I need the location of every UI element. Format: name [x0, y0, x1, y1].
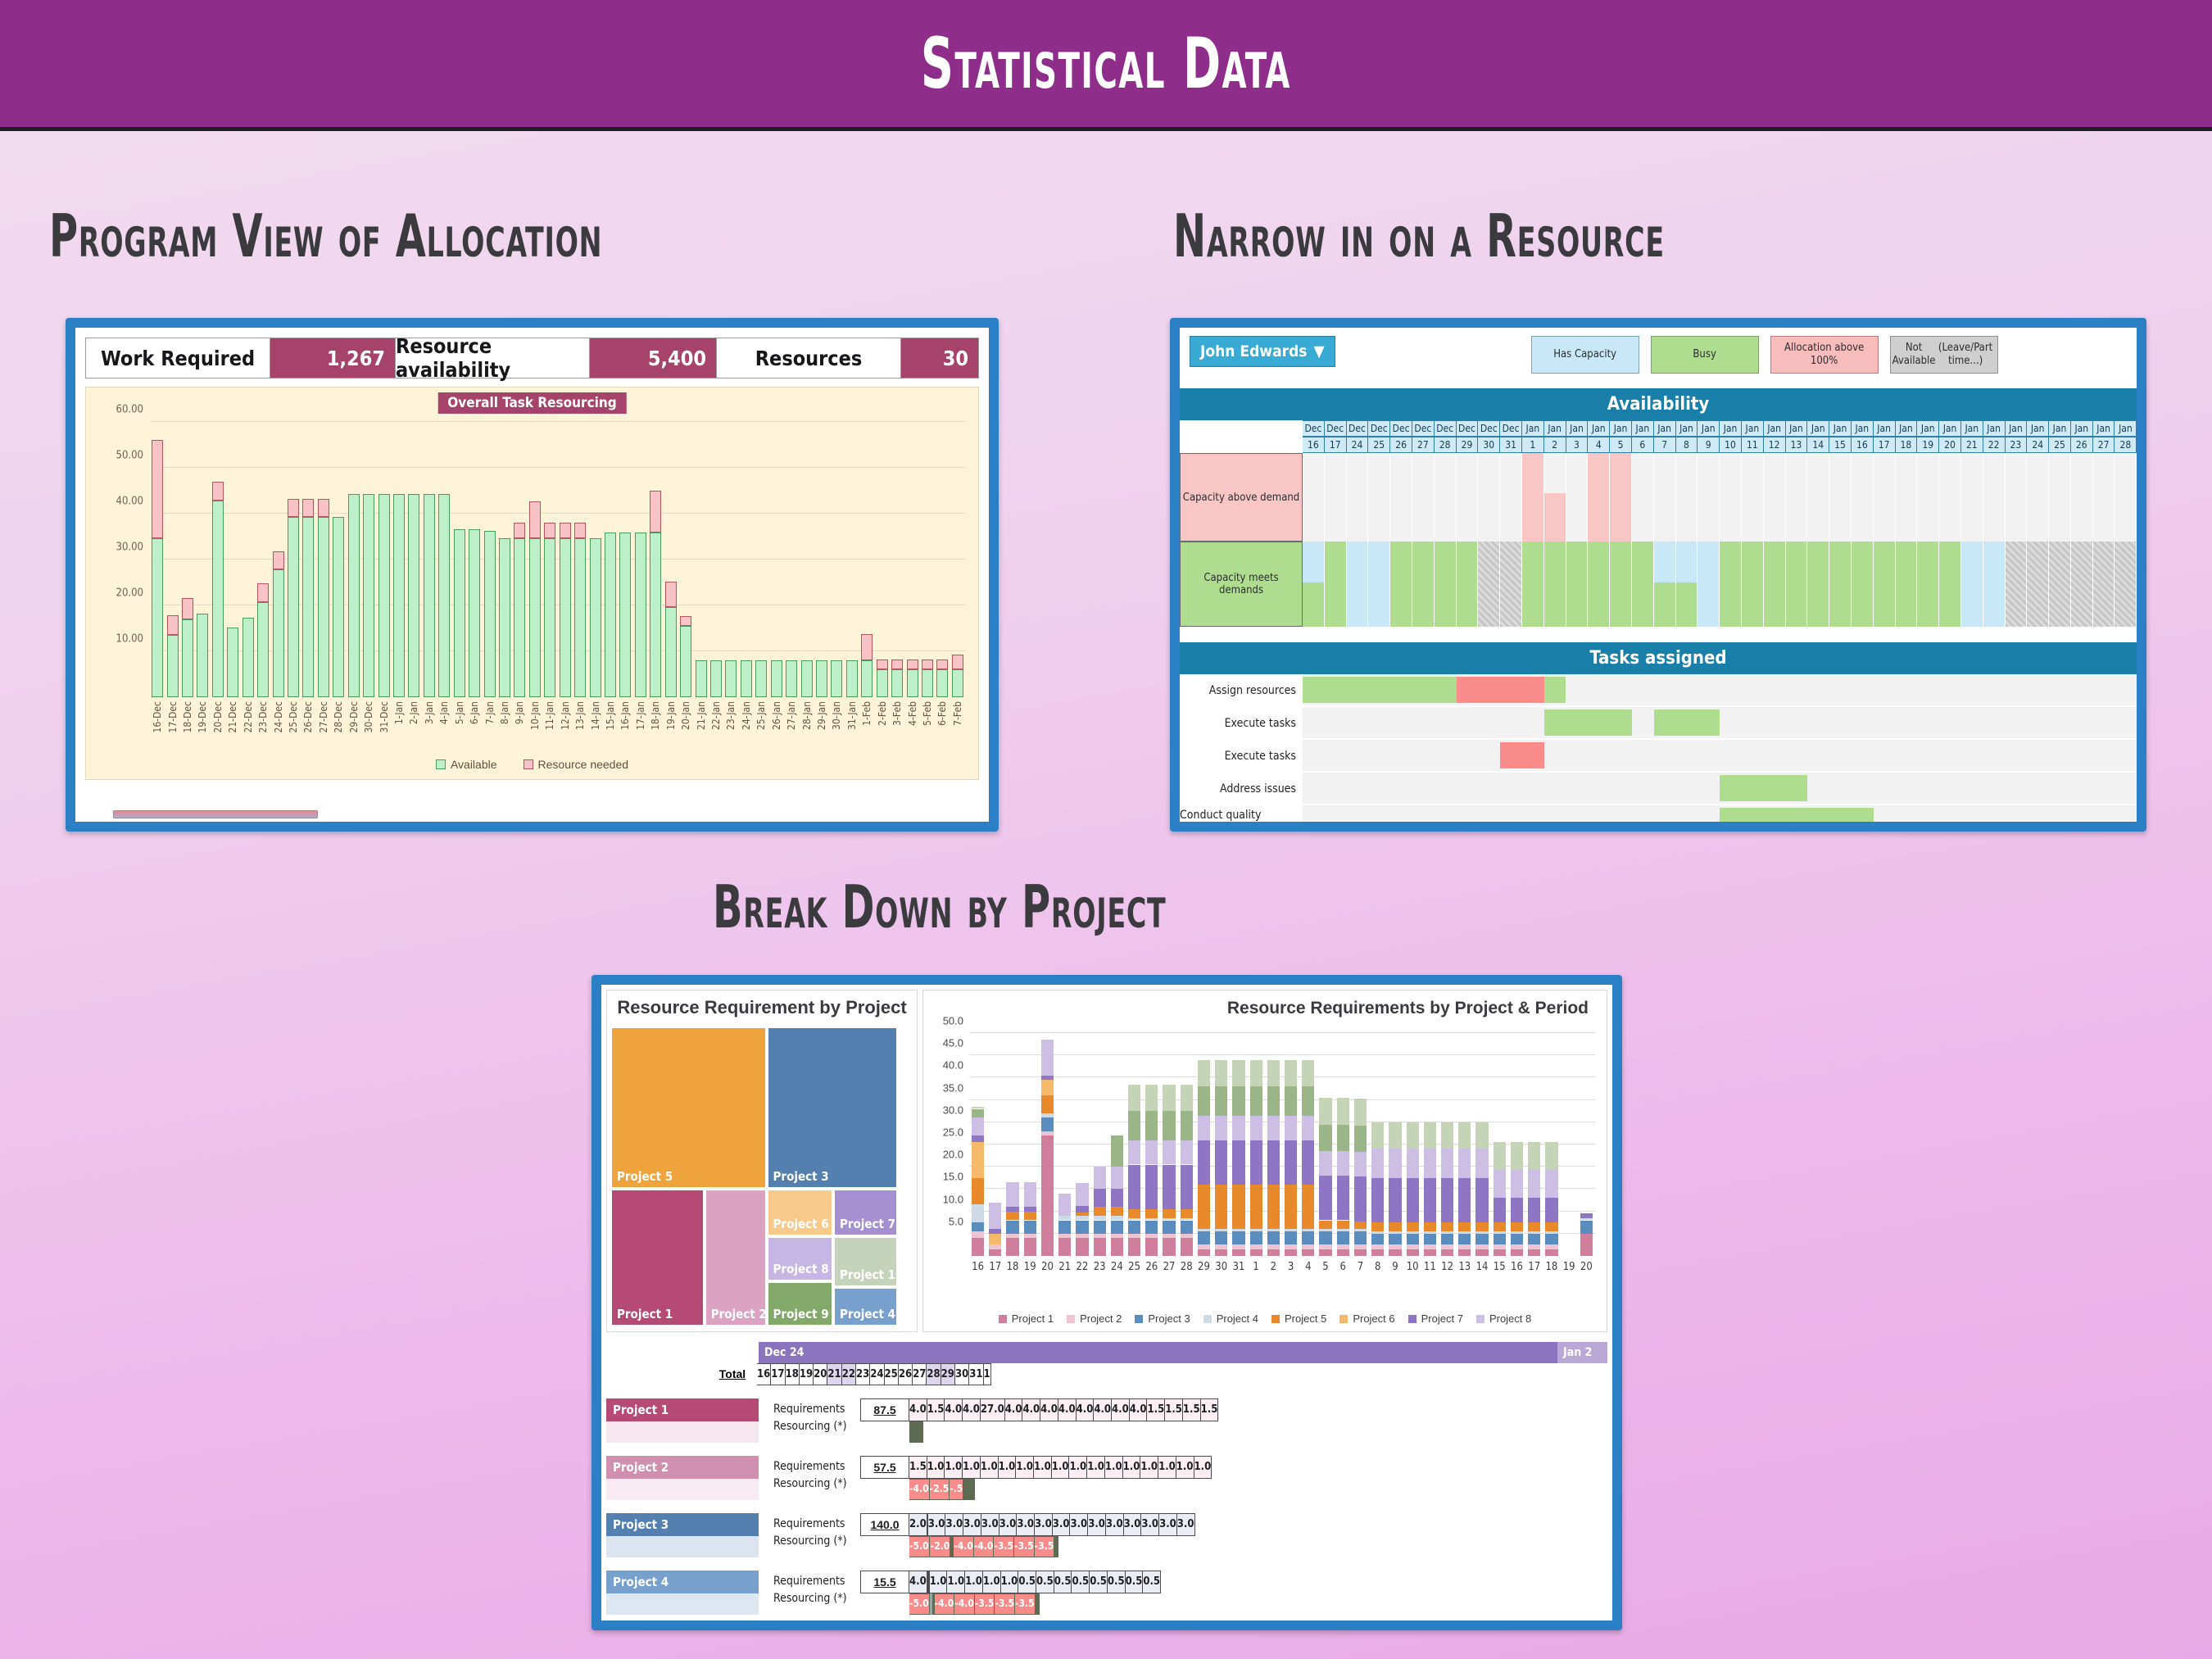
requirement-cell[interactable]: 1.0 — [927, 1456, 945, 1479]
day-header[interactable]: 21 — [827, 1363, 841, 1385]
bar-segment-available — [273, 569, 284, 697]
day-header[interactable]: 22 — [842, 1363, 856, 1385]
bar-segment — [1458, 1244, 1471, 1249]
availability-cell[interactable] — [1544, 453, 1566, 542]
availability-cell[interactable] — [1566, 453, 1589, 542]
availability-cell[interactable] — [1347, 542, 1369, 627]
requirement-cell[interactable]: 1.0 — [1016, 1456, 1034, 1479]
resourcing-cell[interactable] — [922, 1421, 923, 1443]
requirement-cell[interactable]: 3.0 — [1035, 1513, 1053, 1536]
availability-row-label: Capacity above demand — [1180, 453, 1303, 542]
requirement-cell[interactable]: 1.5 — [909, 1456, 927, 1479]
day-header[interactable]: 19 — [800, 1363, 814, 1385]
resourcing-cell[interactable]: -4.0 — [909, 1479, 930, 1500]
resource-selector-dropdown[interactable]: John Edwards ▼ — [1190, 336, 1335, 367]
availability-cell[interactable] — [1544, 542, 1566, 627]
bar-segment-resource-needed — [288, 499, 299, 518]
requirement-cell[interactable]: 4.0 — [1130, 1398, 1148, 1421]
availability-cell[interactable] — [1654, 453, 1676, 542]
availability-cell[interactable] — [1325, 542, 1347, 627]
resourcing-cell[interactable]: -5.0 — [909, 1536, 930, 1557]
requirement-cell[interactable]: 1.0 — [930, 1571, 948, 1593]
day-header[interactable]: 20 — [814, 1363, 827, 1385]
treemap-tile[interactable]: Project 4 — [833, 1287, 899, 1326]
bar: 21-Dec — [227, 422, 238, 697]
task-bar-over[interactable] — [1500, 742, 1544, 768]
requirement-cell[interactable]: 4.0 — [1005, 1398, 1023, 1421]
x-axis-tick-label: 19-Dec — [197, 701, 208, 733]
table-project-row: Project 3RequirementsResourcing (*)140.0… — [606, 1513, 1607, 1557]
treemap-tile[interactable]: Project 7 — [833, 1189, 899, 1237]
availability-cell[interactable] — [1829, 542, 1852, 627]
availability-cell[interactable] — [1457, 453, 1479, 542]
availability-cell[interactable] — [2093, 542, 2115, 627]
bar-segment — [1424, 1122, 1436, 1149]
availability-cell[interactable] — [1390, 542, 1412, 627]
day-header[interactable]: 25 — [885, 1363, 899, 1385]
availability-cell[interactable] — [1325, 453, 1347, 542]
requirement-cell[interactable]: 3.0 — [945, 1513, 963, 1536]
availability-row: Capacity above demand — [1180, 453, 2137, 542]
date-header-month: Jan — [1917, 420, 1939, 437]
bar-segment — [1528, 1169, 1540, 1198]
legend-item: Project 8 — [1476, 1312, 1531, 1325]
project-chip[interactable]: Project 1 — [606, 1398, 759, 1421]
row-values: 2.03.03.03.03.03.03.03.03.03.03.03.03.03… — [909, 1513, 1607, 1557]
requirement-cell[interactable]: 1.0 — [999, 1456, 1017, 1479]
x-axis-tick-label: 5 — [1322, 1261, 1328, 1273]
requirement-cell[interactable]: 3.0 — [1124, 1513, 1142, 1536]
task-bar-busy[interactable] — [1720, 808, 1874, 822]
requirement-cell[interactable]: 3.0 — [1159, 1513, 1177, 1536]
day-header[interactable]: 24 — [870, 1363, 884, 1385]
bar: 27-Dec — [318, 422, 329, 697]
bar-segment — [1354, 1152, 1367, 1176]
requirements-cells: 4.01.01.01.01.01.00.50.50.50.50.50.50.50… — [909, 1571, 1607, 1593]
availability-cell[interactable] — [2093, 453, 2115, 542]
project-chip[interactable]: Project 2 — [606, 1456, 759, 1479]
y-axis-tick-label: 10.00 — [116, 633, 143, 646]
requirement-cell[interactable]: 4.0 — [1058, 1398, 1077, 1421]
x-axis-tick-label: 30-Jan — [831, 701, 842, 730]
availability-cell[interactable] — [1676, 542, 1698, 627]
requirement-cell[interactable]: 3.0 — [1106, 1513, 1124, 1536]
requirement-cell[interactable]: 3.0 — [1017, 1513, 1035, 1536]
bar-segment — [1215, 1185, 1227, 1229]
requirement-cell[interactable]: 0.5 — [1108, 1571, 1126, 1593]
day-header[interactable]: 26 — [899, 1363, 913, 1385]
requirement-cell[interactable]: 1.0 — [983, 1571, 1001, 1593]
day-header[interactable]: 17 — [771, 1363, 785, 1385]
bar-segment — [1058, 1221, 1071, 1234]
x-axis-tick-label: 7 — [1358, 1261, 1363, 1273]
requirement-cell[interactable]: 4.0 — [963, 1398, 981, 1421]
bar: 23 — [1094, 1033, 1106, 1256]
availability-cell[interactable] — [1654, 542, 1676, 627]
requirement-cell[interactable]: 1.5 — [927, 1398, 945, 1421]
y-axis-tick-label: 40.00 — [116, 496, 143, 508]
requirement-cell[interactable]: 1.0 — [965, 1571, 983, 1593]
treemap-tile[interactable]: Project 6 — [767, 1189, 833, 1237]
bar-segment-available — [454, 529, 465, 697]
date-header-month: Dec — [1500, 420, 1522, 437]
over-capacity-fill — [1544, 493, 1566, 542]
requirement-cell[interactable]: 0.5 — [1054, 1571, 1072, 1593]
requirement-cell[interactable]: 4.0 — [909, 1398, 927, 1421]
row-labels: RequirementsResourcing (*) — [759, 1513, 860, 1557]
availability-cell[interactable] — [1390, 453, 1412, 542]
total-value: 140.0 — [860, 1513, 909, 1557]
requirement-cell[interactable]: 1.0 — [963, 1456, 981, 1479]
section-heading-narrow-resource: Narrow in on a Resource — [1173, 202, 1665, 270]
project-chip-column: Project 1 — [606, 1398, 759, 1443]
project-chip-sub — [606, 1479, 759, 1500]
resourcing-cell[interactable]: -3.5 — [975, 1593, 995, 1615]
availability-cell[interactable] — [2049, 453, 2071, 542]
resourcing-cell[interactable]: -3.5 — [1035, 1536, 1055, 1557]
availability-cell[interactable] — [1874, 542, 1896, 627]
requirement-cell[interactable]: 1.0 — [1123, 1456, 1141, 1479]
requirement-cell[interactable]: 3.0 — [981, 1513, 999, 1536]
day-header-spacer — [606, 1363, 708, 1385]
availability-cell[interactable] — [2071, 453, 2093, 542]
requirement-cell[interactable]: 27.0 — [981, 1398, 1005, 1421]
requirement-cell[interactable]: 1.0 — [1087, 1456, 1105, 1479]
x-axis-tick-label: 27 — [1163, 1261, 1176, 1273]
status-legend-2: Allocation above 100% — [1770, 336, 1879, 374]
requirement-cell[interactable]: 1.0 — [947, 1571, 965, 1593]
availability-cell[interactable] — [2006, 542, 2028, 627]
x-axis-tick-label: 28 — [1181, 1261, 1193, 1273]
availability-cell[interactable] — [2115, 453, 2137, 542]
bar: 18 — [1545, 1033, 1557, 1256]
requirement-cell[interactable]: 1.0 — [945, 1456, 963, 1479]
bar-segment — [1511, 1249, 1523, 1256]
date-header-month: Dec — [1478, 420, 1500, 437]
availability-cell[interactable] — [1764, 453, 1786, 542]
requirement-cell[interactable]: 4.0 — [1022, 1398, 1040, 1421]
availability-cell[interactable] — [1347, 453, 1369, 542]
project-chip[interactable]: Project 3 — [606, 1513, 759, 1536]
bar-segment — [1111, 1135, 1123, 1167]
treemap-tile[interactable]: Project 8 — [767, 1236, 833, 1281]
requirement-cell[interactable]: 4.0 — [1094, 1398, 1112, 1421]
availability-cell[interactable] — [1412, 453, 1435, 542]
availability-cell[interactable] — [1478, 542, 1500, 627]
resourcing-cell[interactable]: -2.5 — [930, 1479, 950, 1500]
x-axis-tick-label: 3-Jan — [424, 701, 435, 724]
bar-segment — [1250, 1244, 1262, 1249]
bar-segment — [1511, 1231, 1523, 1234]
availability-cell[interactable] — [1303, 542, 1325, 627]
availability-cell[interactable] — [1720, 542, 1742, 627]
availability-cell[interactable] — [1983, 542, 2006, 627]
x-axis-tick-label: 31-Dec — [378, 701, 390, 733]
requirement-cell[interactable]: 4.0 — [1077, 1398, 1095, 1421]
treemap-tile[interactable]: Project 5 — [610, 1027, 767, 1189]
availability-cell[interactable] — [1500, 542, 1522, 627]
bar-segment — [989, 1249, 1001, 1256]
availability-cell[interactable] — [2071, 542, 2093, 627]
availability-cell[interactable] — [1829, 453, 1852, 542]
availability-cell[interactable] — [2049, 542, 2071, 627]
bar-segment — [1475, 1178, 1488, 1222]
availability-cell[interactable] — [1939, 453, 1961, 542]
requirement-cell[interactable]: 1.5 — [1201, 1398, 1219, 1421]
bar: 17-Dec — [167, 422, 179, 697]
availability-cell[interactable] — [1742, 453, 1764, 542]
availability-cell[interactable] — [1852, 542, 1874, 627]
task-bar-busy[interactable] — [1544, 677, 1566, 703]
date-header-day: 30 — [1478, 437, 1500, 453]
legend-swatch — [1135, 1315, 1143, 1323]
bar-segment-available — [861, 660, 873, 697]
bar-segment — [1407, 1149, 1419, 1177]
availability-cell[interactable] — [1852, 453, 1874, 542]
bar-segment — [1441, 1222, 1453, 1231]
availability-cell[interactable] — [1742, 542, 1764, 627]
requirement-cell[interactable]: 3.0 — [1141, 1513, 1159, 1536]
x-axis-tick-label: 15-Jan — [605, 701, 616, 730]
project-chip[interactable]: Project 4 — [606, 1571, 759, 1593]
availability-cell[interactable] — [1500, 453, 1522, 542]
date-header-month: Jan — [2049, 420, 2071, 437]
treemap-tile[interactable]: Project 1 — [610, 1189, 705, 1326]
task-bar-busy[interactable] — [1303, 677, 1457, 703]
requirement-cell[interactable]: 4.0 — [1040, 1398, 1058, 1421]
availability-cell[interactable] — [1896, 542, 1918, 627]
bar-segment — [1232, 1116, 1244, 1140]
legend-item: Project 5 — [1271, 1312, 1326, 1325]
task-bar-over[interactable] — [1457, 677, 1544, 703]
treemap-tile[interactable]: Project 10 — [833, 1236, 899, 1287]
requirement-cell[interactable]: 0.5 — [1090, 1571, 1108, 1593]
kpi-label-work-required: Work Required — [86, 338, 270, 378]
availability-cell[interactable] — [1610, 542, 1632, 627]
resourcing-cell[interactable] — [1058, 1536, 1058, 1557]
resourcing-cell[interactable]: -4.0 — [954, 1536, 974, 1557]
requirement-cell[interactable]: 1.0 — [1052, 1456, 1070, 1479]
task-bar-busy[interactable] — [1654, 709, 1720, 736]
resourcing-cell[interactable]: -3.5 — [994, 1536, 1014, 1557]
date-header-day: 12 — [1764, 437, 1786, 453]
bar: 17-Jan — [635, 422, 646, 697]
requirement-cell[interactable]: 1.0 — [1105, 1456, 1123, 1479]
task-bar-busy[interactable] — [1720, 775, 1807, 801]
resourcing-cell[interactable]: -4.0 — [954, 1593, 975, 1615]
bar-segment — [1232, 1249, 1244, 1256]
bar-segment-available — [243, 618, 254, 697]
requirement-cell[interactable]: 0.5 — [1072, 1571, 1090, 1593]
requirement-cell[interactable]: 1.0 — [1069, 1456, 1087, 1479]
availability-cell[interactable] — [1303, 453, 1325, 542]
availability-cell[interactable] — [1566, 542, 1589, 627]
treemap-tile[interactable]: Project 3 — [767, 1027, 899, 1189]
requirement-cell[interactable]: 3.0 — [1070, 1513, 1088, 1536]
bar-segment — [1407, 1122, 1419, 1149]
x-axis-tick-label: 1 — [1253, 1261, 1258, 1273]
resourcing-cell[interactable]: -3.5 — [1014, 1536, 1035, 1557]
x-axis-tick-label: 20 — [1580, 1261, 1593, 1273]
bar-segment-available — [650, 533, 661, 697]
requirement-cell[interactable]: 1.0 — [1034, 1456, 1052, 1479]
row-labels: RequirementsResourcing (*) — [759, 1456, 860, 1500]
availability-cell[interactable] — [1896, 453, 1918, 542]
requirement-cell[interactable]: 4.0 — [945, 1398, 963, 1421]
availability-cell[interactable] — [1522, 453, 1544, 542]
availability-cell[interactable] — [1676, 453, 1698, 542]
day-header[interactable]: 23 — [856, 1363, 870, 1385]
availability-cell[interactable] — [1698, 542, 1720, 627]
availability-row: Capacity meets demands — [1180, 542, 2137, 627]
requirement-cell[interactable]: 1.0 — [1001, 1571, 1019, 1593]
requirement-cell[interactable]: 4.0 — [909, 1571, 927, 1593]
x-axis-tick-label: 1-Jan — [393, 701, 405, 724]
requirement-cell[interactable]: 3.0 — [1177, 1513, 1195, 1536]
availability-cell[interactable] — [2115, 542, 2137, 627]
bar-segment — [1337, 1176, 1349, 1220]
availability-cell[interactable] — [2027, 453, 2049, 542]
resourcing-cell[interactable]: -3.5 — [1015, 1593, 1036, 1615]
bar-segment — [1302, 1116, 1314, 1140]
availability-cell[interactable] — [1807, 542, 1829, 627]
availability-cell[interactable] — [1939, 542, 1961, 627]
resourcing-cell[interactable] — [974, 1479, 975, 1500]
availability-cell[interactable] — [1917, 542, 1939, 627]
requirement-cell[interactable]: 3.0 — [928, 1513, 946, 1536]
availability-cell[interactable] — [1632, 453, 1654, 542]
availability-cell[interactable] — [1764, 542, 1786, 627]
table-month-row: Dec 24Jan 2 — [606, 1342, 1607, 1363]
bar: 27 — [1163, 1033, 1175, 1256]
availability-cell[interactable] — [1961, 542, 1983, 627]
bar: 23-Dec — [257, 422, 269, 697]
availability-cell[interactable] — [1874, 453, 1896, 542]
availability-cell[interactable] — [1368, 453, 1390, 542]
availability-cell[interactable] — [1478, 453, 1500, 542]
requirement-cell[interactable]: 3.0 — [999, 1513, 1018, 1536]
bar-segment — [1024, 1212, 1036, 1221]
resourcing-cell[interactable]: -.5 — [950, 1479, 963, 1500]
requirement-cell[interactable]: 3.0 — [963, 1513, 981, 1536]
availability-cell[interactable] — [1786, 453, 1808, 542]
bar-segment — [1111, 1189, 1123, 1207]
availability-cell[interactable] — [1588, 542, 1610, 627]
date-header-day: 18 — [1896, 437, 1918, 453]
requirement-cell[interactable]: 2.0 — [909, 1513, 927, 1536]
bar-segment — [1354, 1222, 1367, 1230]
day-header[interactable]: 30 — [955, 1363, 969, 1385]
requirement-cell[interactable]: 1.5 — [1165, 1398, 1183, 1421]
project-chip-sub — [606, 1536, 759, 1557]
availability-cell[interactable] — [1961, 453, 1983, 542]
day-header[interactable]: 16 — [757, 1363, 771, 1385]
requirement-cell[interactable]: 1.0 — [1194, 1456, 1213, 1479]
requirement-cell[interactable]: 1.0 — [1140, 1456, 1158, 1479]
requirement-cell[interactable]: 4.0 — [1112, 1398, 1130, 1421]
availability-cell[interactable] — [1807, 453, 1829, 542]
requirement-cell[interactable]: 1.0 — [1158, 1456, 1176, 1479]
day-header[interactable]: 31 — [969, 1363, 983, 1385]
resourcing-cell[interactable]: -2.0 — [931, 1536, 951, 1557]
bar: 19 — [1024, 1033, 1036, 1256]
requirement-cell[interactable]: 3.0 — [1088, 1513, 1106, 1536]
busy-fill — [1654, 582, 1675, 627]
requirement-cell[interactable]: 0.5 — [1143, 1571, 1161, 1593]
availability-track — [1303, 453, 2137, 542]
availability-cell[interactable] — [1457, 542, 1479, 627]
bar-segment — [1250, 1116, 1262, 1140]
date-header-day: 23 — [2006, 437, 2028, 453]
resourcing-cell[interactable]: -5.0 — [909, 1593, 930, 1615]
bar-segment — [1041, 1040, 1054, 1076]
availability-cell[interactable] — [1917, 453, 1939, 542]
requirement-cell[interactable]: 0.5 — [1126, 1571, 1144, 1593]
resourcing-cell[interactable] — [1039, 1593, 1040, 1615]
requirement-cell[interactable]: 3.0 — [1053, 1513, 1071, 1536]
day-header[interactable]: 1 — [984, 1363, 991, 1385]
x-axis-tick-label: 19 — [1563, 1261, 1575, 1273]
y-axis-tick-label: 15.0 — [943, 1171, 963, 1183]
legend-label: Project 7 — [1421, 1312, 1463, 1325]
availability-cell[interactable] — [1720, 453, 1742, 542]
bar-segment-resource-needed — [907, 660, 918, 669]
bar-segment — [1407, 1234, 1419, 1245]
legend-label: Project 3 — [1148, 1312, 1190, 1325]
day-header[interactable]: 28 — [927, 1363, 941, 1385]
availability-cell[interactable] — [1412, 542, 1435, 627]
y-axis-tick-label: 25.0 — [943, 1126, 963, 1139]
overall-task-resourcing-chart: Overall Task Resourcing 10.0020.0030.004… — [85, 387, 979, 780]
availability-cell[interactable] — [1786, 542, 1808, 627]
availability-cell[interactable] — [1368, 542, 1390, 627]
requirement-cell[interactable]: 0.5 — [1018, 1571, 1036, 1593]
bar: 15 — [1494, 1033, 1506, 1256]
horizontal-scrollbar[interactable] — [113, 810, 318, 818]
bar-segment-available — [544, 538, 555, 697]
date-header-day: 14 — [1807, 437, 1829, 453]
availability-cell[interactable] — [1983, 453, 2006, 542]
date-header-month: Dec — [1347, 420, 1369, 437]
task-bar-busy[interactable] — [1544, 709, 1632, 736]
resourcing-cell[interactable]: -3.5 — [995, 1593, 1015, 1615]
availability-cell[interactable] — [1698, 453, 1720, 542]
availability-cell[interactable] — [1632, 542, 1654, 627]
legend-item: Project 1 — [999, 1312, 1054, 1325]
resourcing-cell[interactable]: -4.0 — [935, 1593, 955, 1615]
availability-cell[interactable] — [1588, 453, 1610, 542]
availability-cell[interactable] — [1435, 542, 1457, 627]
day-header[interactable]: 27 — [913, 1363, 927, 1385]
resourcing-cell[interactable]: -4.0 — [974, 1536, 995, 1557]
requirement-cell[interactable]: 1.0 — [1176, 1456, 1194, 1479]
requirement-cell[interactable]: 1.0 — [981, 1456, 999, 1479]
availability-cell[interactable] — [2006, 453, 2028, 542]
availability-cell[interactable] — [1610, 453, 1632, 542]
date-header-month: Jan — [2006, 420, 2028, 437]
requirement-cell[interactable]: 1.5 — [1183, 1398, 1201, 1421]
availability-cell[interactable] — [1435, 453, 1457, 542]
treemap-tile[interactable]: Project 9 — [767, 1281, 833, 1326]
day-header[interactable]: 18 — [786, 1363, 800, 1385]
bar-segment-available — [529, 538, 541, 697]
availability-cell[interactable] — [2027, 542, 2049, 627]
availability-cell[interactable] — [1522, 542, 1544, 627]
requirement-cell[interactable]: 0.5 — [1036, 1571, 1054, 1593]
day-header[interactable]: 29 — [941, 1363, 955, 1385]
treemap-tile[interactable]: Project 2 — [705, 1189, 767, 1326]
requirement-cell[interactable]: 1.5 — [1147, 1398, 1165, 1421]
